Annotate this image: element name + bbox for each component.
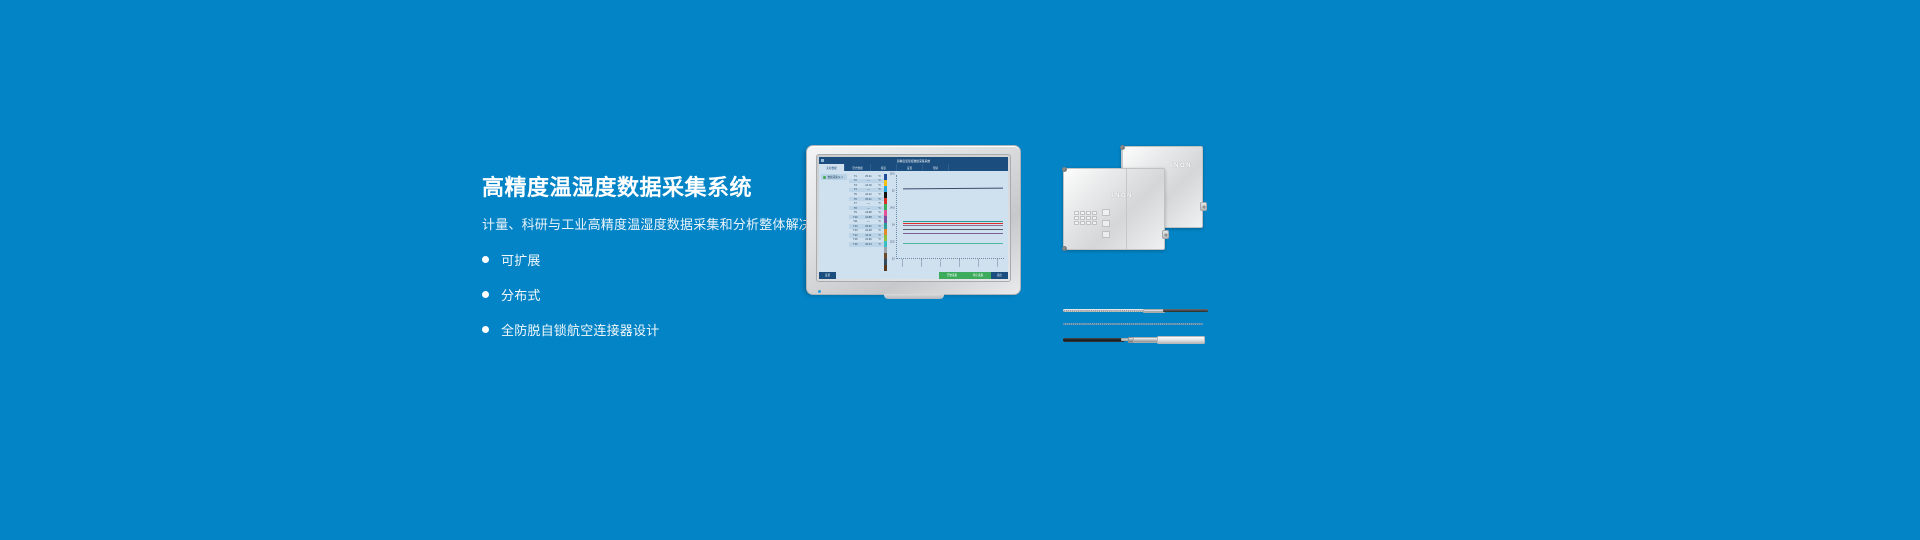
terminal-cell [1086, 216, 1091, 220]
product-image-probes [1063, 300, 1208, 360]
toolbar-spacer [836, 271, 939, 279]
chart-y-axis: 25.52524.52423.523 [887, 174, 896, 259]
channel-label: T11 [850, 220, 861, 223]
channel-value: 25.41 [861, 175, 877, 178]
probe-ferrule [1143, 309, 1165, 313]
channel-label: T2 [850, 179, 861, 182]
terminal-grid [1074, 211, 1097, 225]
x-axis-tick: 14:20:21 [902, 259, 904, 267]
device-tree-sidebar: 数据采集仪-1 [819, 171, 849, 271]
channel-value: 24.88 [861, 216, 877, 219]
terminal-cell [1092, 221, 1097, 225]
channel-value: ---- [861, 202, 877, 205]
channel-unit: ℃ [876, 198, 883, 201]
monitor-inner-bezel: 高精度温湿度数据采集系统 实时数据 历史数据 报表 设置 帮助 数据采集仪-1 [816, 154, 1011, 282]
sidebar-item-device[interactable]: 数据采集仪-1 [821, 174, 847, 180]
tab-report[interactable]: 报表 [871, 164, 897, 171]
channel-label: T13 [850, 229, 861, 232]
port-slot [1102, 220, 1110, 227]
channel-value: 25.04 [861, 243, 877, 246]
port-column [1102, 209, 1110, 238]
channel-label: T4 [850, 188, 861, 191]
table-row[interactable]: T1625.04℃ [849, 242, 884, 247]
software-screen: 高精度温湿度数据采集系统 实时数据 历史数据 报表 设置 帮助 数据采集仪-1 [819, 157, 1008, 279]
x-axis-tick: 14:21:57 [940, 259, 942, 267]
channel-value: ---- [861, 179, 877, 182]
app-title: 高精度温湿度数据采集系统 [897, 159, 930, 163]
feature-label: 可扩展 [501, 250, 541, 269]
port-slot [1102, 231, 1110, 238]
channel-value: ---- [861, 220, 877, 223]
terminal-cell [1080, 216, 1085, 220]
channel-value: 24.28 [861, 229, 877, 232]
tab-history-data[interactable]: 历史数据 [845, 164, 871, 171]
channel-unit: ℃ [876, 216, 883, 219]
product-image-modules: INON INON [1063, 142, 1203, 302]
channel-value: 25.61 [861, 198, 877, 201]
blue-braided-sensor-cable [1063, 322, 1203, 326]
connector-port [1162, 230, 1169, 239]
channel-table: T125.41℃T2----℃T324.19℃T4----℃T524.12℃T6… [849, 171, 884, 271]
channel-label: T16 [850, 243, 861, 246]
channel-unit: ℃ [876, 207, 883, 210]
brand-label: INON [1171, 163, 1192, 169]
screw-icon [1062, 246, 1067, 251]
channel-value: ---- [861, 207, 877, 210]
channel-unit: ℃ [876, 179, 883, 182]
channel-value: 24.11 [861, 234, 877, 237]
device-tree-label: 数据采集仪-1 [828, 175, 843, 179]
port-slot [1102, 209, 1110, 216]
channel-label: T1 [850, 175, 861, 178]
bullet-dot-icon [482, 291, 489, 298]
braided-cable [1063, 309, 1145, 312]
y-axis-tick: 25.5 [890, 173, 895, 176]
y-axis-tick: 23 [892, 258, 895, 261]
app-logo-icon [821, 159, 824, 162]
app-bottom-toolbar: 设置 开始采集 停止采集 退出 [819, 271, 1008, 279]
x-axis-tick: 14:21:09 [921, 259, 923, 267]
tab-realtime-data[interactable]: 实时数据 [819, 164, 845, 171]
monitor-stand [884, 294, 944, 299]
channel-unit: ℃ [876, 238, 883, 241]
product-image-monitor: 高精度温湿度数据采集系统 实时数据 历史数据 报表 设置 帮助 数据采集仪-1 [806, 145, 1021, 295]
settings-button[interactable]: 设置 [819, 272, 836, 279]
y-axis-tick: 25 [892, 190, 895, 193]
terminal-cell [1092, 216, 1097, 220]
tab-settings[interactable]: 设置 [897, 164, 923, 171]
terminal-cell [1080, 211, 1085, 215]
app-titlebar: 高精度温湿度数据采集系统 [819, 157, 1008, 164]
terminal-cell [1080, 221, 1085, 225]
module-seam [1126, 169, 1127, 249]
brand-label: INON [1112, 193, 1133, 199]
sensor-housing [1157, 336, 1205, 344]
x-axis-tick: 14:24:21 [997, 259, 999, 267]
terminal-cell [1074, 216, 1079, 220]
aviation-connector-probe [1063, 336, 1208, 344]
channel-unit: ℃ [876, 220, 883, 223]
y-axis-tick: 24 [892, 224, 895, 227]
chart-x-axis: 14:20:2114:21:0914:21:5714:22:4514:23:33… [896, 259, 1004, 271]
x-axis-tick: 14:22:45 [959, 259, 961, 267]
channel-value: 24.98 [861, 211, 877, 214]
channel-value: 25.02 [861, 225, 877, 228]
channel-unit: ℃ [876, 225, 883, 228]
feature-label: 分布式 [501, 285, 541, 304]
channel-label: T10 [850, 216, 861, 219]
black-cable [1063, 338, 1125, 342]
terminal-cell [1086, 211, 1091, 215]
chart-series-line [903, 187, 1003, 188]
channel-unit: ℃ [876, 202, 883, 205]
braided-temperature-probe [1063, 308, 1208, 313]
channel-unit: ℃ [876, 188, 883, 191]
channel-unit: ℃ [876, 229, 883, 232]
monitor-bezel: 高精度温湿度数据采集系统 实时数据 历史数据 报表 设置 帮助 数据采集仪-1 [806, 145, 1021, 295]
channel-label: T9 [850, 211, 861, 214]
channel-label: T14 [850, 234, 861, 237]
chart-frame: 25.52524.52423.523 14:20:2114:21:0914:21… [887, 174, 1006, 271]
channel-value: 24.12 [861, 193, 877, 196]
channel-unit: ℃ [876, 175, 883, 178]
channel-unit: ℃ [876, 211, 883, 214]
channel-unit: ℃ [876, 193, 883, 196]
channel-label: T6 [850, 198, 861, 201]
start-acquisition-button[interactable]: 开始采集 [939, 272, 965, 279]
trend-chart: 25.52524.52423.523 14:20:2114:21:0914:21… [887, 171, 1008, 271]
list-item: 全防脱自锁航空连接器设计 [482, 320, 952, 339]
power-led-icon [818, 290, 821, 293]
channel-label: T15 [850, 238, 861, 241]
channel-unit: ℃ [876, 243, 883, 246]
blue-cable [1063, 323, 1203, 326]
screw-icon [1062, 167, 1067, 172]
stop-acquisition-button[interactable]: 停止采集 [965, 272, 991, 279]
probe-shaft [1163, 309, 1208, 312]
channel-value: 24.90 [861, 238, 877, 241]
channel-value: 24.19 [861, 184, 877, 187]
channel-label: T12 [850, 225, 861, 228]
screw-icon [1120, 145, 1125, 150]
channel-label: T3 [850, 184, 861, 187]
tab-help[interactable]: 帮助 [923, 164, 949, 171]
channel-value: ---- [861, 188, 877, 191]
channel-label: T7 [850, 202, 861, 205]
bullet-dot-icon [482, 256, 489, 263]
feature-label: 全防脱自锁航空连接器设计 [501, 320, 659, 339]
y-axis-tick: 23.5 [890, 241, 895, 244]
channel-unit: ℃ [876, 184, 883, 187]
terminal-cell [1074, 211, 1079, 215]
status-dot-icon [823, 176, 826, 179]
chart-plot-area [896, 175, 1004, 259]
channel-label: T8 [850, 207, 861, 210]
bullet-dot-icon [482, 326, 489, 333]
channel-label: T5 [850, 193, 861, 196]
exit-button[interactable]: 退出 [991, 272, 1008, 279]
app-tabbar: 实时数据 历史数据 报表 设置 帮助 [819, 164, 1008, 171]
terminal-cell [1092, 211, 1097, 215]
terminal-cell [1074, 221, 1079, 225]
app-body: 数据采集仪-1 T125.41℃T2----℃T324.19℃T4----℃T5… [819, 171, 1008, 271]
y-axis-tick: 24.5 [890, 207, 895, 210]
connector-port [1200, 202, 1207, 211]
x-axis-tick: 14:23:33 [978, 259, 980, 267]
acquisition-module-front: INON [1063, 168, 1165, 250]
terminal-cell [1086, 221, 1091, 225]
channel-unit: ℃ [876, 234, 883, 237]
aviation-connector [1133, 337, 1159, 344]
